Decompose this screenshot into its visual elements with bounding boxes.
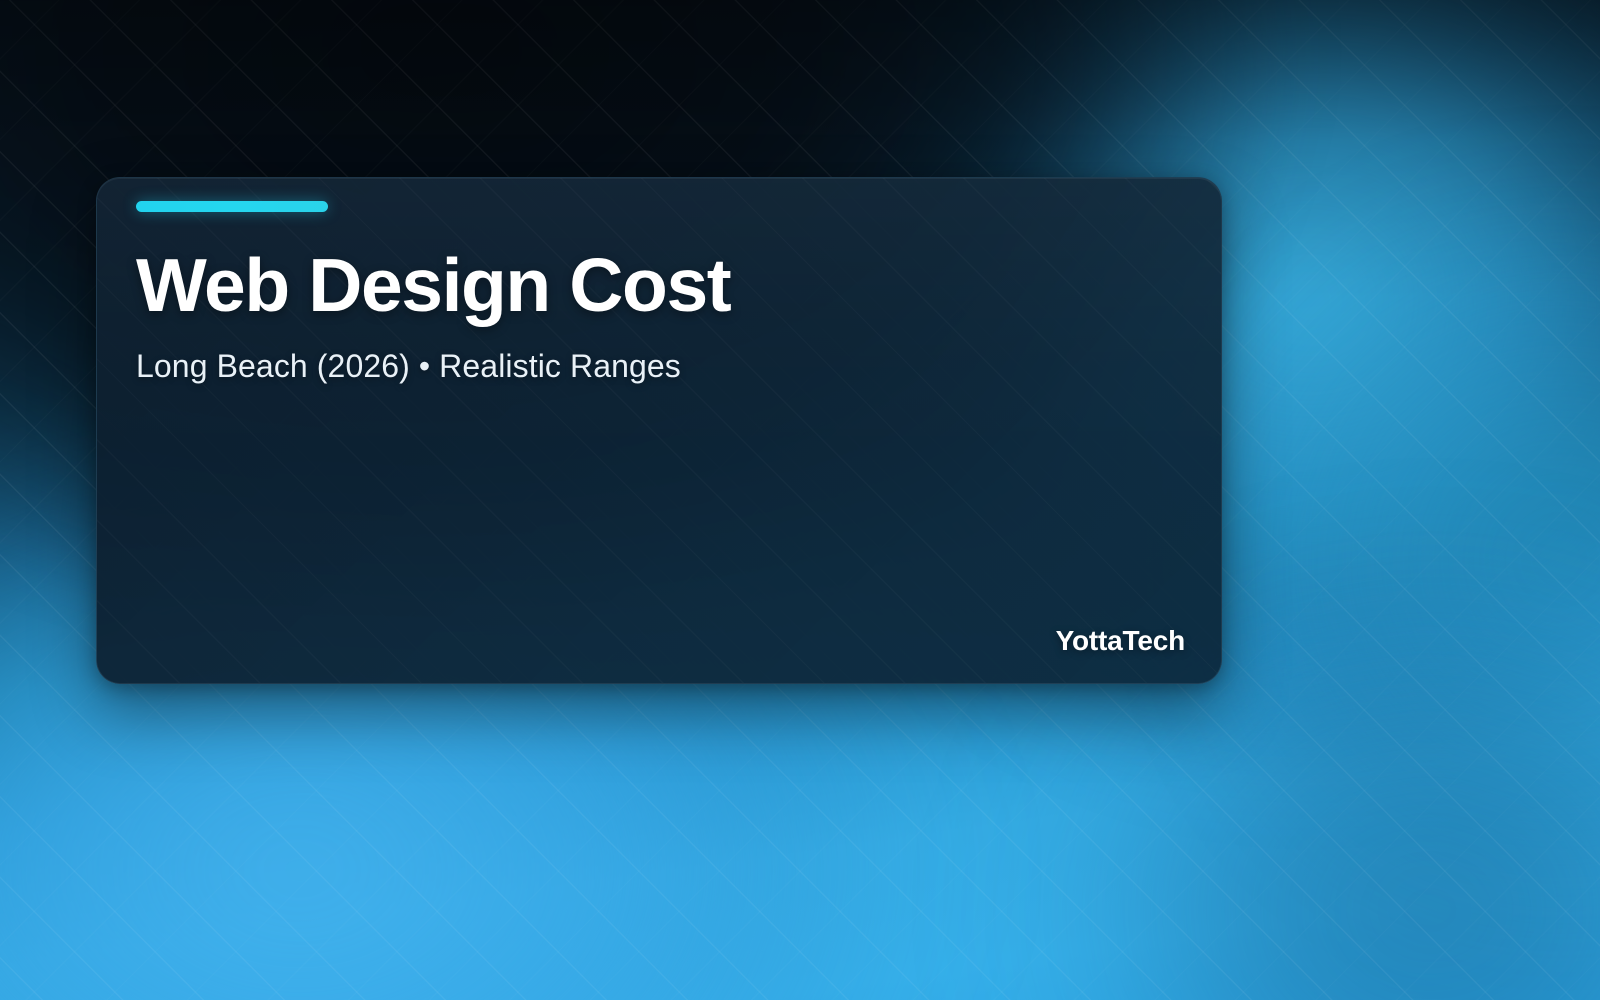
slide-canvas: Web Design Cost Long Beach (2026) • Real… bbox=[0, 0, 1600, 1000]
page-subtitle: Long Beach (2026) • Realistic Ranges bbox=[136, 346, 1185, 386]
hero-card-content: Web Design Cost Long Beach (2026) • Real… bbox=[97, 178, 1221, 683]
hero-card: Web Design Cost Long Beach (2026) • Real… bbox=[96, 177, 1222, 684]
page-title: Web Design Cost bbox=[136, 248, 1185, 323]
brand-logo-text: YottaTech bbox=[1056, 625, 1185, 657]
accent-bar bbox=[136, 201, 328, 212]
content-spacer bbox=[136, 386, 1185, 625]
brand-row: YottaTech bbox=[136, 625, 1185, 657]
